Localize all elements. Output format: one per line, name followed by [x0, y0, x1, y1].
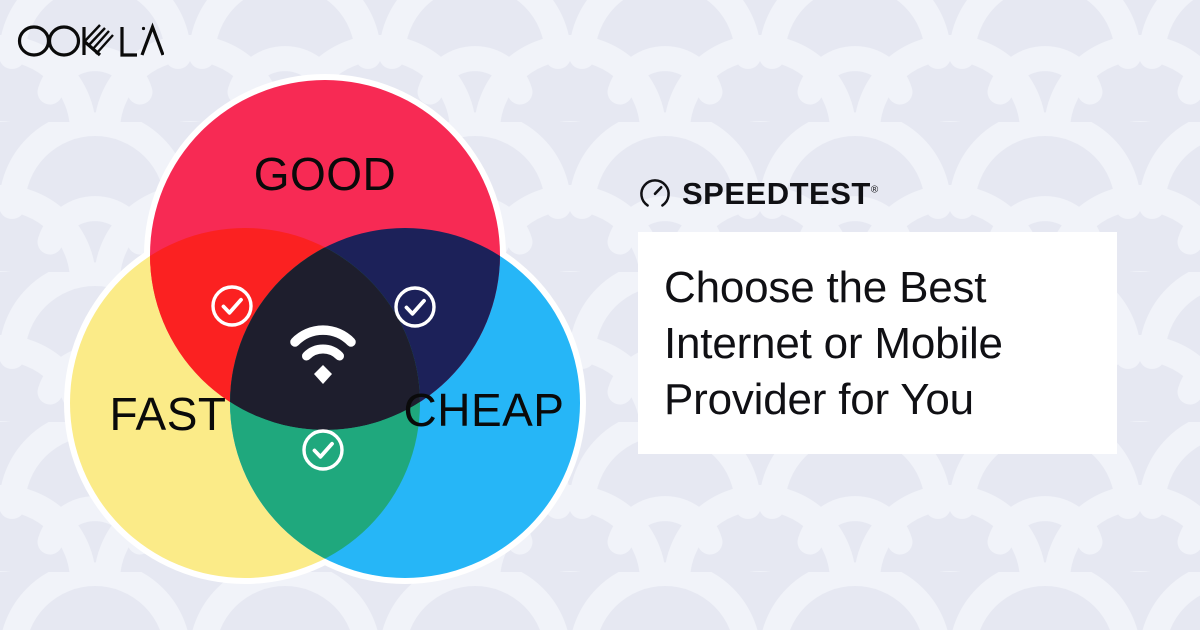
- venn-label-cheap: CHEAP: [404, 384, 565, 436]
- promo-graphic: GOOD FAST CHEAP: [0, 0, 1200, 630]
- venn-label-fast: FAST: [109, 388, 226, 440]
- headline-line-1: Choose the Best: [664, 263, 986, 312]
- registered-trademark-symbol: ®: [871, 184, 878, 195]
- venn-diagram: GOOD FAST CHEAP: [40, 50, 610, 590]
- headline-line-3: Provider for You: [664, 375, 974, 424]
- headline-line-2: Internet or Mobile: [664, 319, 1003, 368]
- headline-card: Choose the Best Internet or Mobile Provi…: [638, 232, 1117, 454]
- speedometer-icon: [638, 176, 672, 210]
- speedtest-wordmark-text: SPEEDTEST: [682, 176, 871, 211]
- venn-label-good: GOOD: [254, 148, 397, 200]
- ookla-logo: [16, 16, 164, 62]
- right-content-column: SPEEDTEST® Choose the Best Internet or M…: [638, 170, 1138, 454]
- speedtest-logo: SPEEDTEST®: [638, 170, 1138, 216]
- page-title: Choose the Best Internet or Mobile Provi…: [664, 260, 1003, 428]
- speedtest-wordmark: SPEEDTEST®: [682, 178, 878, 209]
